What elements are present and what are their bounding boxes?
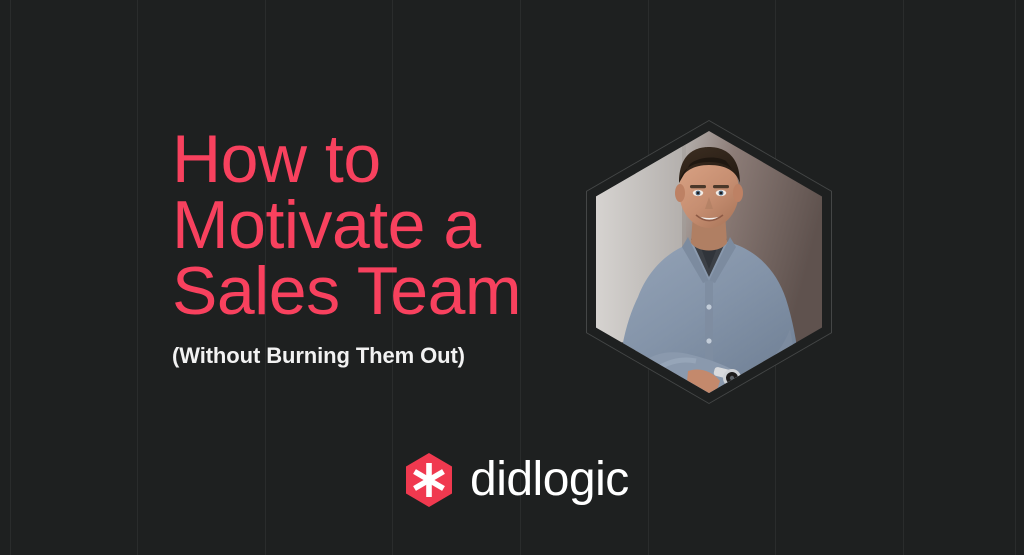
page-subtitle: (Without Burning Them Out) — [172, 342, 572, 370]
portrait-hexagon — [586, 120, 832, 404]
hero-text-block: How to Motivate a Sales Team (Without Bu… — [172, 126, 572, 370]
brand-wordmark: didlogic — [470, 456, 629, 504]
grid-line-7 — [903, 0, 904, 555]
grid-line-0 — [10, 0, 11, 555]
brand-logo: didlogic — [404, 452, 629, 508]
grid-line-1 — [137, 0, 138, 555]
grid-line-8 — [1015, 0, 1016, 555]
slide-canvas: How to Motivate a Sales Team (Without Bu… — [0, 0, 1024, 555]
page-title: How to Motivate a Sales Team — [172, 126, 572, 324]
hexagon-asterisk-icon — [404, 452, 454, 508]
